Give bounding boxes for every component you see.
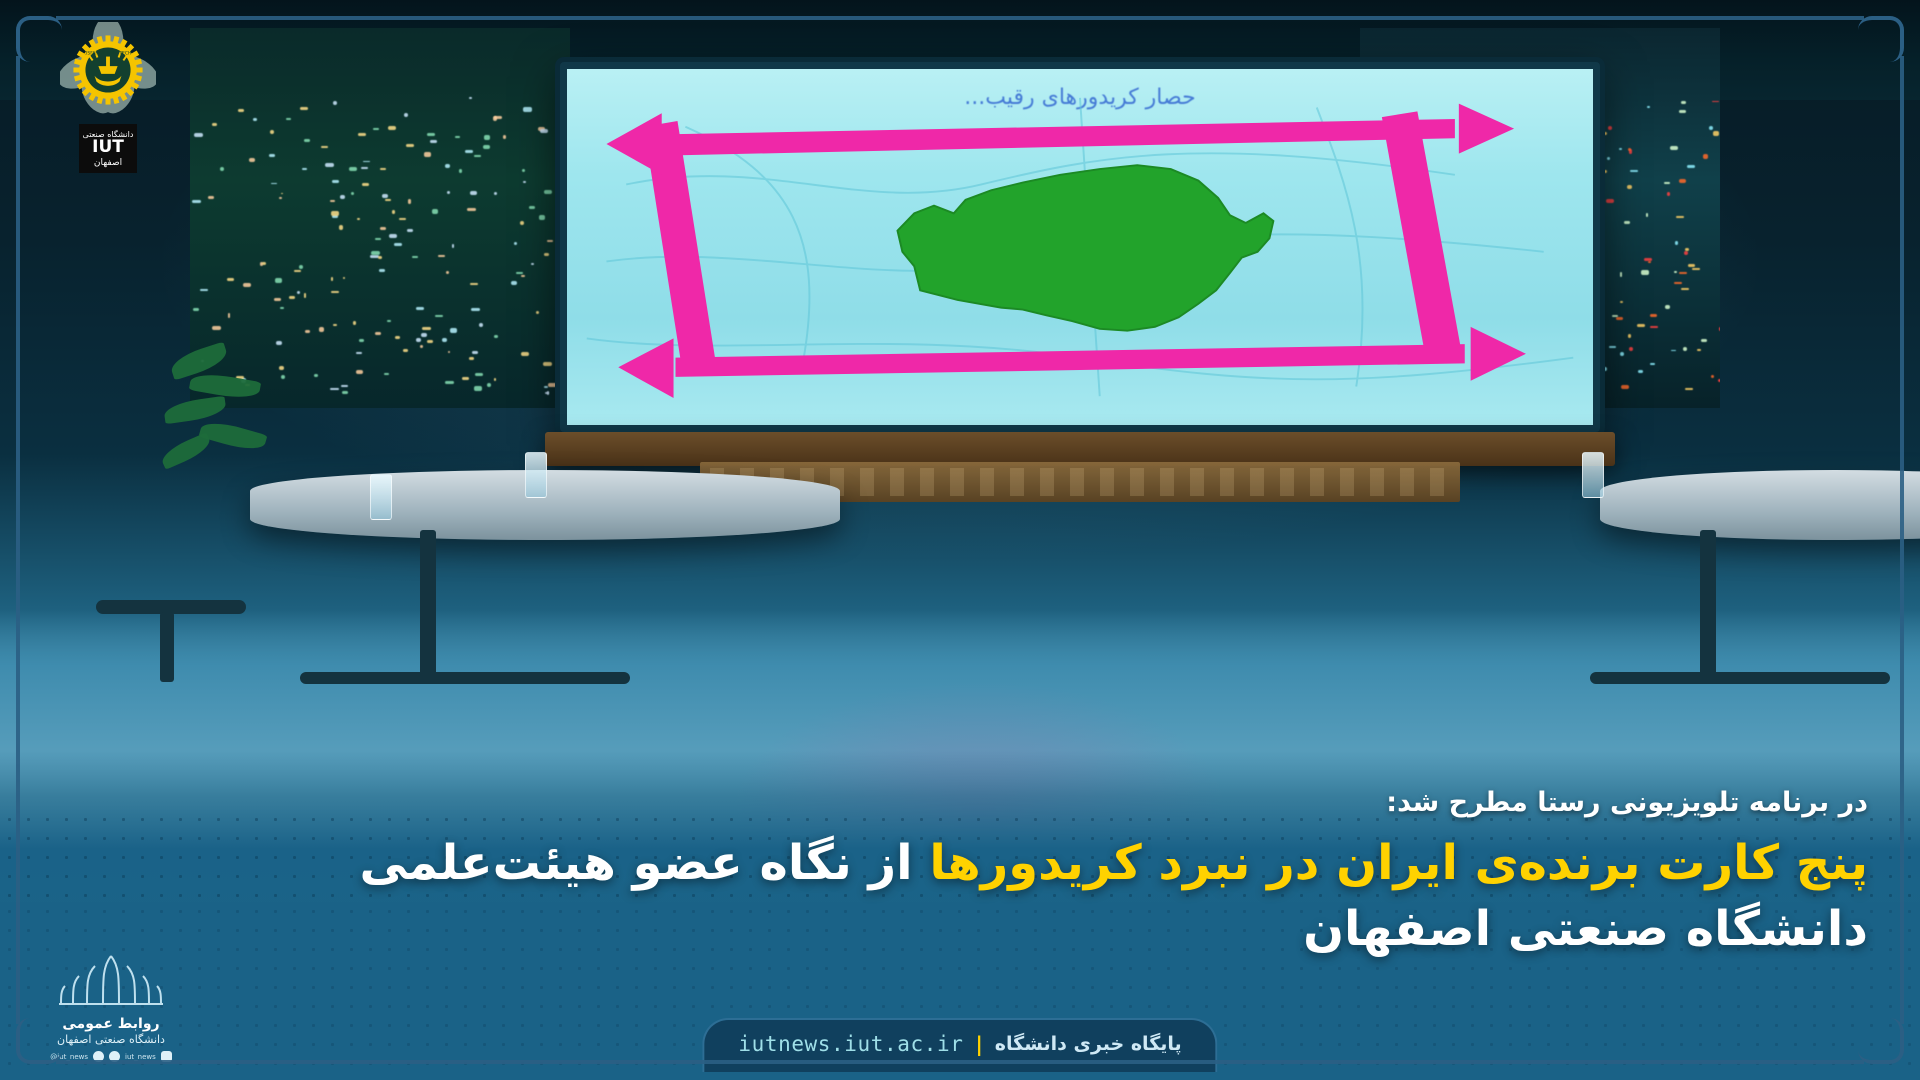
isfahan-university-emblem-icon: ISFAHAN UNIV. TECH. [60,22,156,118]
public-relations-logo: روابط عمومی دانشگاه صنعتی اصفهان iut_new… [42,952,180,1062]
footer-separator: | [975,1032,982,1056]
campus-skyline-icon [51,952,171,1008]
footer-url[interactable]: iutnews.iut.ac.ir [738,1032,963,1056]
overline-text: در برنامه تلویزیونی رستا مطرح شد: [52,783,1868,824]
video-wall-base [545,432,1615,466]
poster-canvas: حصار کریدورهای رقیب... [0,0,1920,1080]
telegram-handle: @iut_news [50,1053,88,1061]
headline-text: پنج کارت برنده‌ی ایران در نبرد کریدورها … [52,830,1868,962]
pr-line-1: روابط عمومی [42,1016,180,1032]
screen-map-graphic [567,69,1593,425]
table-foot [300,672,630,684]
table-leg [1700,530,1716,680]
table-leg [420,530,436,680]
pr-line-2: دانشگاه صنعتی اصفهان [42,1033,180,1046]
decor-plant [160,330,300,480]
footer-url-bar[interactable]: پایگاه خبری دانشگاه | iutnews.iut.ac.ir [702,1018,1217,1072]
telegram-icon[interactable] [109,1051,120,1062]
host-table [1600,470,1920,540]
footer-site-label: پایگاه خبری دانشگاه [995,1033,1182,1055]
university-wordmark: دانشگاه صنعتی IUT اصفهان [79,124,138,173]
wordmark-line-large: IUT [83,139,134,157]
wordmark-line-city: اصفهان [83,158,134,168]
headline-highlight: پنج کارت برنده‌ی ایران در نبرد کریدورها [929,835,1868,891]
university-logo-top-left: ISFAHAN UNIV. TECH. دانشگاه صنعتی IUT اص… [48,22,168,173]
svg-text:ISFAHAN UNIV. TECH.: ISFAHAN UNIV. TECH. [85,51,132,57]
instagram-handle: iut_news [125,1053,156,1061]
caption-text-block: در برنامه تلویزیونی رستا مطرح شد: پنج کا… [52,783,1868,962]
headline-line1-rest: از نگاه عضو هیئت‌علمی [360,835,930,891]
chair-post [160,612,174,682]
led-video-wall: حصار کریدورهای رقیب... [560,62,1600,432]
water-glass [1582,452,1604,498]
water-glass [370,474,392,520]
twitter-icon[interactable] [93,1051,104,1062]
water-glass [525,452,547,498]
headline-line2: دانشگاه صنعتی اصفهان [52,896,1868,962]
instagram-icon[interactable] [161,1051,172,1062]
social-handles-row[interactable]: iut_news @iut_news [42,1051,180,1062]
table-foot [1590,672,1890,684]
